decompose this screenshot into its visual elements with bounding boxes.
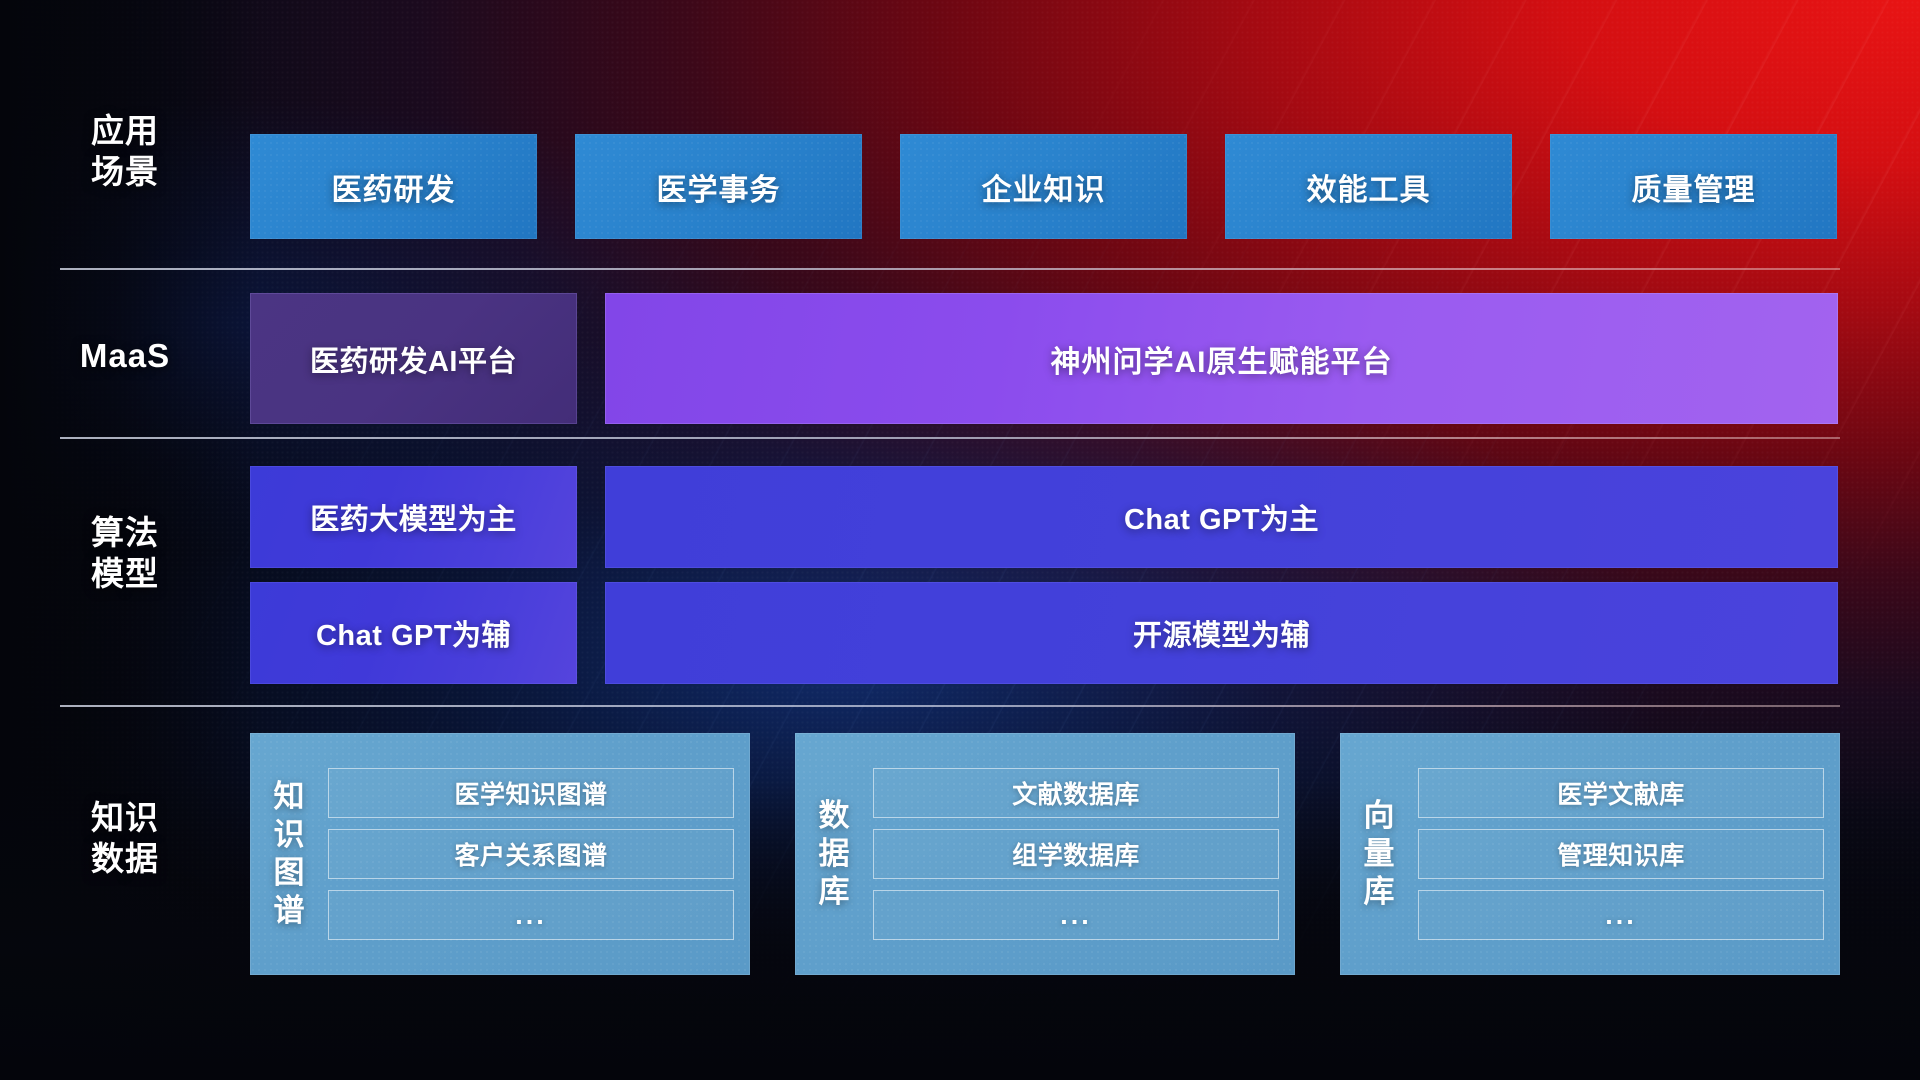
row-label-algorithm-model: 算法 模型 — [40, 512, 210, 594]
app-tile-3[interactable]: 企业知识 — [900, 134, 1187, 239]
maas-tile-shenzhou-platform-label: 神州问学AI原生赋能平台 — [1051, 337, 1393, 381]
app-tile-5-label: 质量管理 — [1632, 165, 1756, 209]
divider-2 — [60, 437, 1840, 439]
app-tile-2[interactable]: 医学事务 — [575, 134, 862, 239]
app-tile-1-label: 医药研发 — [332, 165, 456, 209]
app-tile-5[interactable]: 质量管理 — [1550, 134, 1837, 239]
app-tile-4-label: 效能工具 — [1307, 165, 1431, 209]
app-tile-1[interactable]: 医药研发 — [250, 134, 537, 239]
maas-tile-drug-rd-platform-label: 医药研发AI平台 — [310, 338, 517, 380]
app-tile-2-label: 医学事务 — [657, 165, 781, 209]
knowledge-item-literature-db[interactable]: 文献数据库 — [873, 768, 1279, 818]
divider-3 — [60, 705, 1840, 707]
knowledge-group-graph-items: 医学知识图谱 客户关系图谱 ... — [328, 768, 734, 940]
knowledge-item-medical-literature[interactable]: 医学文献库 — [1418, 768, 1824, 818]
algo-tile-chatgpt-primary[interactable]: Chat GPT为主 — [605, 466, 1838, 568]
divider-1 — [60, 268, 1840, 270]
knowledge-group-graph[interactable]: 知 识 图 谱 医学知识图谱 客户关系图谱 ... — [250, 733, 750, 975]
algo-tile-opensource-secondary-label: 开源模型为辅 — [1133, 612, 1310, 654]
app-tile-3-label: 企业知识 — [982, 165, 1106, 209]
maas-tile-shenzhou-platform[interactable]: 神州问学AI原生赋能平台 — [605, 293, 1838, 424]
row-label-application-scenario: 应用 场景 — [40, 110, 210, 192]
knowledge-group-graph-title: 知 识 图 谱 — [250, 778, 328, 930]
row-label-knowledge-data: 知识 数据 — [40, 797, 210, 879]
knowledge-item-omics-db[interactable]: 组学数据库 — [873, 829, 1279, 879]
row-label-maas: MaaS — [40, 335, 210, 376]
knowledge-group-vector[interactable]: 向 量 库 医学文献库 管理知识库 ... — [1340, 733, 1840, 975]
knowledge-item-graph-more[interactable]: ... — [328, 890, 734, 940]
algo-tile-drug-model-primary[interactable]: 医药大模型为主 — [250, 466, 577, 568]
knowledge-item-database-more[interactable]: ... — [873, 890, 1279, 940]
algo-tile-opensource-secondary[interactable]: 开源模型为辅 — [605, 582, 1838, 684]
knowledge-group-vector-items: 医学文献库 管理知识库 ... — [1418, 768, 1824, 940]
knowledge-group-database-items: 文献数据库 组学数据库 ... — [873, 768, 1279, 940]
maas-tile-drug-rd-platform[interactable]: 医药研发AI平台 — [250, 293, 577, 424]
knowledge-group-database-title: 数 据 库 — [795, 797, 873, 911]
algo-tile-chatgpt-primary-label: Chat GPT为主 — [1124, 496, 1319, 538]
algo-tile-chatgpt-secondary-label: Chat GPT为辅 — [316, 612, 511, 654]
knowledge-item-medical-graph[interactable]: 医学知识图谱 — [328, 768, 734, 818]
diagram-canvas: 应用 场景 医药研发 医学事务 企业知识 效能工具 质量管理 MaaS 医药研发… — [0, 0, 1920, 1080]
algo-tile-drug-model-primary-label: 医药大模型为主 — [310, 496, 517, 538]
algo-tile-chatgpt-secondary[interactable]: Chat GPT为辅 — [250, 582, 577, 684]
knowledge-group-vector-title: 向 量 库 — [1340, 797, 1418, 911]
knowledge-item-customer-graph[interactable]: 客户关系图谱 — [328, 829, 734, 879]
knowledge-group-database[interactable]: 数 据 库 文献数据库 组学数据库 ... — [795, 733, 1295, 975]
knowledge-item-vector-more[interactable]: ... — [1418, 890, 1824, 940]
app-tile-4[interactable]: 效能工具 — [1225, 134, 1512, 239]
knowledge-item-management-knowledge[interactable]: 管理知识库 — [1418, 829, 1824, 879]
